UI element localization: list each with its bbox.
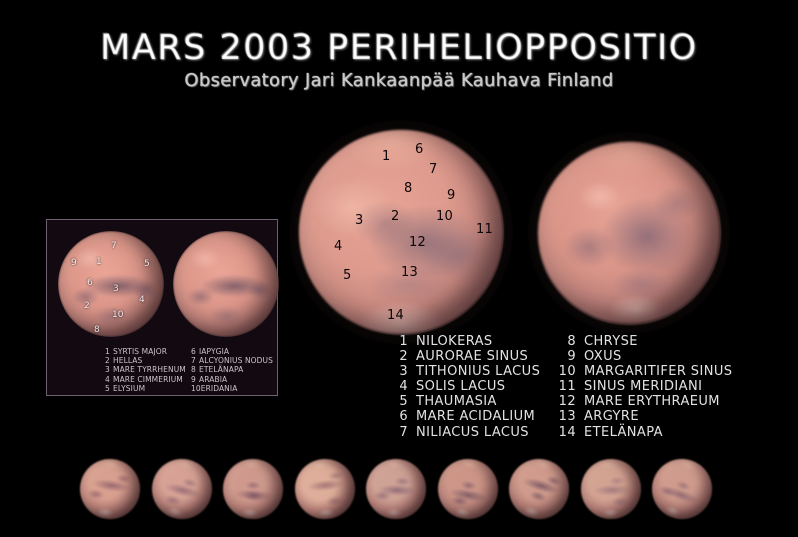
inset-legend-row-number: 9 [191, 375, 199, 384]
feature-marker-11: 11 [476, 223, 493, 236]
legend-row: 11SINUS MERIDIANI [554, 379, 732, 394]
inset-legend-row-label: IAPYGIA [199, 347, 229, 356]
mars-thumbnail-surface [76, 455, 144, 523]
legend-row-label: MARE ACIDALIUM [416, 409, 535, 424]
mars-thumbnail-1 [80, 459, 140, 519]
inset-disk-surface [173, 231, 279, 337]
inset-marker-9: 9 [71, 259, 77, 268]
disk-limb-shading [538, 142, 720, 324]
legend-row-number: 2 [386, 349, 408, 364]
legend-row: 2AURORAE SINUS [386, 349, 540, 364]
legend-row-label: MARE ERYTHRAEUM [584, 394, 720, 409]
inset-legend-row-label: HELLAS [113, 356, 142, 365]
feature-marker-5: 5 [343, 269, 351, 282]
inset-legend-row-label: MARE CIMMERIUM [113, 375, 183, 384]
legend-row-label: ARGYRE [584, 409, 639, 424]
mars-thumbnail-strip [0, 459, 798, 525]
legend-row: 13ARGYRE [554, 409, 732, 424]
legend-row-number: 3 [386, 364, 408, 379]
inset-legend-row: 6 IAPYGIA [191, 347, 273, 356]
inset-mars-disk-labelled: 12345678910 [58, 231, 164, 337]
legend-row-number: 10 [554, 364, 576, 379]
inset-legend-row-label: ETELÄNAPA [199, 365, 243, 374]
mars-thumbnail-surface [580, 458, 642, 520]
feature-marker-10: 10 [436, 210, 453, 223]
legend-row-number: 13 [554, 409, 576, 424]
legend-row: 10MARGARITIFER SINUS [554, 364, 732, 379]
legend-row-label: CHRYSE [584, 334, 638, 349]
legend-row-number: 5 [386, 394, 408, 409]
legend-row: 3TITHONIUS LACUS [386, 364, 540, 379]
inset-legend-row-number: 7 [191, 356, 199, 365]
legend-row-label: NILOKERAS [416, 334, 493, 349]
feature-marker-2: 2 [391, 210, 399, 223]
disk-limb-shading [299, 130, 503, 334]
inset-legend-row-number: 4 [105, 375, 113, 384]
inset-legend-row-number: 6 [191, 347, 199, 356]
feature-marker-13: 13 [401, 266, 418, 279]
legend-row-label: OXUS [584, 349, 622, 364]
poster-canvas: MARS 2003 PERIHELIOPPOSITIO Observatory … [0, 0, 798, 537]
inset-marker-2: 2 [84, 302, 90, 311]
inset-legend-row-label: ELYSIUM [113, 384, 145, 393]
legend-row: 9OXUS [554, 349, 732, 364]
feature-marker-12: 12 [409, 236, 426, 249]
mars-thumbnail-3 [223, 459, 283, 519]
inset-legend-row: 8 ETELÄNAPA [191, 365, 273, 374]
feature-marker-7: 7 [429, 163, 437, 176]
inset-legend-row-label: ARABIA [199, 375, 227, 384]
inset-marker-1: 1 [96, 258, 102, 267]
inset-legend-row-number: 8 [191, 365, 199, 374]
legend-row-number: 7 [386, 425, 408, 440]
inset-legend-column-right: 6 IAPYGIA7 ALCYONIUS NODUS8 ETELÄNAPA9 A… [191, 347, 273, 393]
inset-marker-5: 5 [144, 260, 150, 269]
legend-row-label: ETELÄNAPA [584, 425, 663, 440]
mars-thumbnail-surface [146, 453, 219, 526]
legend-row-label: NILIACUS LACUS [416, 425, 529, 440]
legend-row-label: SOLIS LACUS [416, 379, 505, 394]
mars-thumbnail-surface [221, 457, 285, 521]
legend-row: 4SOLIS LACUS [386, 379, 540, 394]
feature-marker-8: 8 [404, 182, 412, 195]
inset-legend-row-label: ALCYONIUS NODUS [199, 356, 273, 365]
mars-thumbnail-7 [509, 459, 569, 519]
legend-row: 1NILOKERAS [386, 334, 540, 349]
legend-row-label: THAUMASIA [416, 394, 497, 409]
legend-row-number: 4 [386, 379, 408, 394]
legend-row-number: 9 [554, 349, 576, 364]
inset-legend-row: 5 ELYSIUM [105, 384, 186, 393]
legend-row: 12MARE ERYTHRAEUM [554, 394, 732, 409]
inset-legend-row-number: 10 [191, 384, 201, 393]
legend-row-number: 12 [554, 394, 576, 409]
legend-row-label: TITHONIUS LACUS [416, 364, 540, 379]
mars-thumbnail-surface [502, 452, 576, 526]
legend-row-number: 11 [554, 379, 576, 394]
inset-legend-row-number: 5 [105, 384, 113, 393]
legend-row-number: 14 [554, 425, 576, 440]
mars-thumbnail-4 [295, 459, 355, 519]
mars-thumbnail-surface [433, 454, 503, 524]
inset-marker-3: 3 [113, 285, 119, 294]
legend-row: 8CHRYSE [554, 334, 732, 349]
mars-thumbnail-5 [366, 459, 426, 519]
inset-legend-row: 2 HELLAS [105, 356, 186, 365]
feature-marker-9: 9 [447, 189, 455, 202]
mars-main-disk: 1234567891011121314 [299, 130, 503, 334]
inset-legend-row: 4 MARE CIMMERIUM [105, 375, 186, 384]
mars-thumbnail-8 [581, 459, 641, 519]
page-subtitle: Observatory Jari Kankaanpää Kauhava Finl… [0, 70, 798, 91]
inset-marker-10: 10 [112, 311, 123, 320]
inset-marker-6: 6 [87, 279, 93, 288]
inset-legend-row-label: ERIDANIA [201, 384, 238, 393]
inset-marker-7: 7 [111, 242, 117, 251]
legend-row-number: 1 [386, 334, 408, 349]
legend-row-number: 6 [386, 409, 408, 424]
inset-mars-disk-plain [173, 231, 279, 337]
mars-right-disk [538, 142, 720, 324]
mars-thumbnail-surface [365, 458, 427, 520]
mars-thumbnail-2 [152, 459, 212, 519]
mars-thumbnail-6 [438, 459, 498, 519]
inset-legend-row: 7 ALCYONIUS NODUS [191, 356, 273, 365]
legend-row-label: SINUS MERIDIANI [584, 379, 702, 394]
feature-marker-3: 3 [355, 214, 363, 227]
legend-row: 5THAUMASIA [386, 394, 540, 409]
inset-marker-4: 4 [139, 296, 145, 305]
mars-thumbnail-surface [644, 451, 721, 528]
inset-legend-row-number: 3 [105, 365, 113, 374]
inset-legend-row-number: 2 [105, 356, 113, 365]
legend-row: 6MARE ACIDALIUM [386, 409, 540, 424]
legend-row-number: 8 [554, 334, 576, 349]
inset-legend-row: 9 ARABIA [191, 375, 273, 384]
mars-thumbnail-surface [292, 456, 358, 522]
inset-legend-row: 3 MARE TYRRHENUM [105, 365, 186, 374]
inset-marker-8: 8 [94, 326, 100, 335]
page-title: MARS 2003 PERIHELIOPPOSITIO [0, 28, 798, 68]
legend-row-label: MARGARITIFER SINUS [584, 364, 732, 379]
legend-column-left: 1NILOKERAS2AURORAE SINUS3TITHONIUS LACUS… [386, 334, 540, 440]
inset-legend-row-label: MARE TYRRHENUM [113, 365, 186, 374]
feature-marker-14: 14 [387, 309, 404, 322]
inset-legend: 1 SYRTIS MAJOR2 HELLAS3 MARE TYRRHENUM4 … [47, 347, 279, 397]
legend-row: 14ETELÄNAPA [554, 425, 732, 440]
feature-marker-6: 6 [415, 143, 423, 156]
feature-marker-4: 4 [334, 240, 342, 253]
inset-panel: 12345678910 1 SYRTIS MAJOR2 HELLAS3 MARE… [46, 219, 278, 396]
legend-row: 7NILIACUS LACUS [386, 425, 540, 440]
legend-column-right: 8CHRYSE9OXUS10MARGARITIFER SINUS11SINUS … [554, 334, 732, 440]
inset-legend-row-label: SYRTIS MAJOR [113, 347, 167, 356]
mars-thumbnail-9 [652, 459, 712, 519]
inset-legend-row: 10 ERIDANIA [191, 384, 273, 393]
inset-legend-row-number: 1 [105, 347, 113, 356]
legend-row-label: AURORAE SINUS [416, 349, 528, 364]
feature-legend: 1NILOKERAS2AURORAE SINUS3TITHONIUS LACUS… [386, 334, 746, 442]
inset-legend-row: 1 SYRTIS MAJOR [105, 347, 186, 356]
inset-legend-column-left: 1 SYRTIS MAJOR2 HELLAS3 MARE TYRRHENUM4 … [105, 347, 186, 393]
feature-marker-1: 1 [382, 150, 390, 163]
